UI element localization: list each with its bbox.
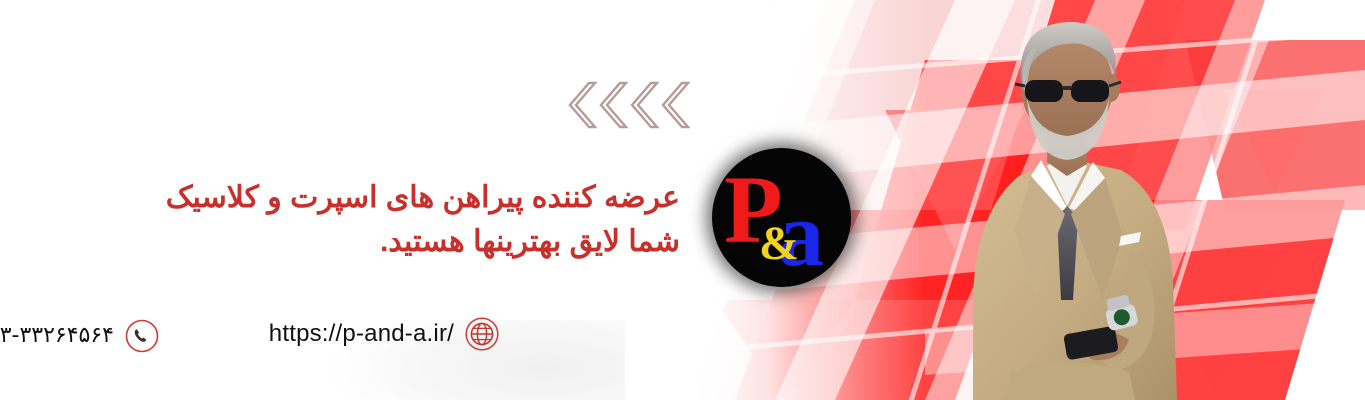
- p-and-a-logo[interactable]: P a &: [712, 148, 851, 287]
- phone-number: ۰۱۳-۳۳۲۶۴۵۶۴: [0, 321, 114, 351]
- chevron-left-icon: [565, 80, 690, 130]
- phone-icon: [124, 318, 160, 354]
- logo-lettermark: P a &: [712, 148, 851, 287]
- chevron-decoration: [565, 80, 690, 130]
- globe-icon: [464, 316, 500, 352]
- website-contact[interactable]: https://p-and-a.ir/: [269, 316, 500, 352]
- logo-ampersand: &: [759, 220, 799, 268]
- headline-line-2: شما لایق بهترینها هستید.: [60, 220, 680, 264]
- headline-line-1: عرضه کننده پیراهن های اسپرت و کلاسیک: [60, 176, 680, 220]
- phone-contact[interactable]: ۰۱۳-۳۳۲۶۴۵۶۴: [0, 318, 160, 354]
- promo-banner: P a & عرضه کننده پیراهن های اسپرت و کلاس…: [0, 0, 1365, 400]
- contact-row: ۰۱۳-۳۳۲۶۴۵۶۴ https://p-and-a.ir/: [60, 312, 680, 372]
- man-illustration: [915, 0, 1215, 400]
- headline: عرضه کننده پیراهن های اسپرت و کلاسیک شما…: [60, 176, 680, 264]
- website-url: https://p-and-a.ir/: [269, 319, 454, 349]
- man-in-suit-photo: [915, 0, 1215, 400]
